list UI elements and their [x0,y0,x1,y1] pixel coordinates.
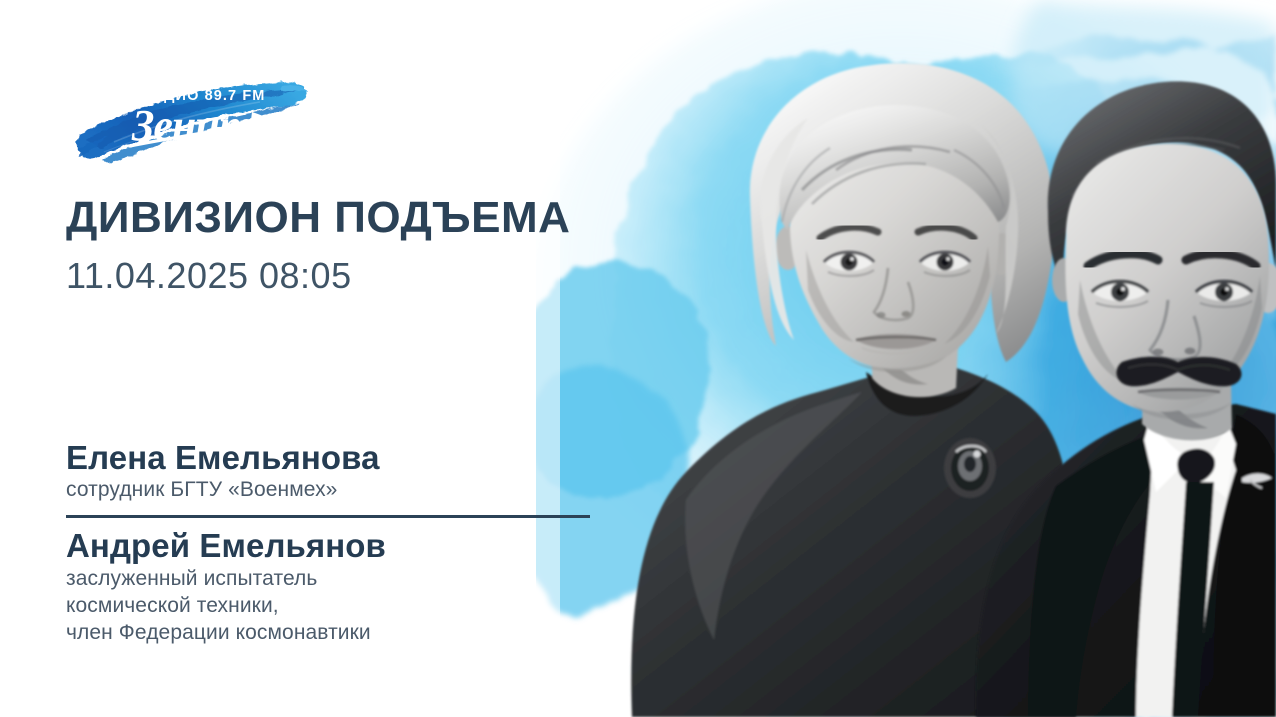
guest-role-line: член Федерации космонавтики [66,620,606,647]
broadcast-datetime: 11.04.2025 08:05 [66,258,352,294]
guest-divider [66,515,590,518]
guest-portraits [536,0,1276,717]
guest-role-line: заслуженный испытатель [66,566,606,593]
woman-brooch [944,438,996,498]
logo-svg: РАДИО 89.7 FM Зенит [74,68,310,168]
radio-show-poster: РАДИО 89.7 FM Зенит ДИВИЗИОН ПОДЪЕМА 11.… [0,0,1276,717]
guest-role-line: сотрудник БГТУ «Военмех» [66,477,606,504]
guest-name: Елена Емельянова [66,440,606,477]
guest-name: Андрей Емельянов [66,528,606,565]
guest-entry: Андрей Емельянов заслуженный испытатель … [66,528,606,647]
radio-zenit-logo[interactable]: РАДИО 89.7 FM Зенит [74,68,310,168]
guest-role-line: космической техники, [66,593,606,620]
portraits-svg [536,0,1276,717]
guest-list: Елена Емельянова сотрудник БГТУ «Военмех… [66,440,606,646]
guest-entry: Елена Емельянова сотрудник БГТУ «Военмех… [66,440,606,504]
page-title: ДИВИЗИОН ПОДЪЕМА [66,196,570,240]
